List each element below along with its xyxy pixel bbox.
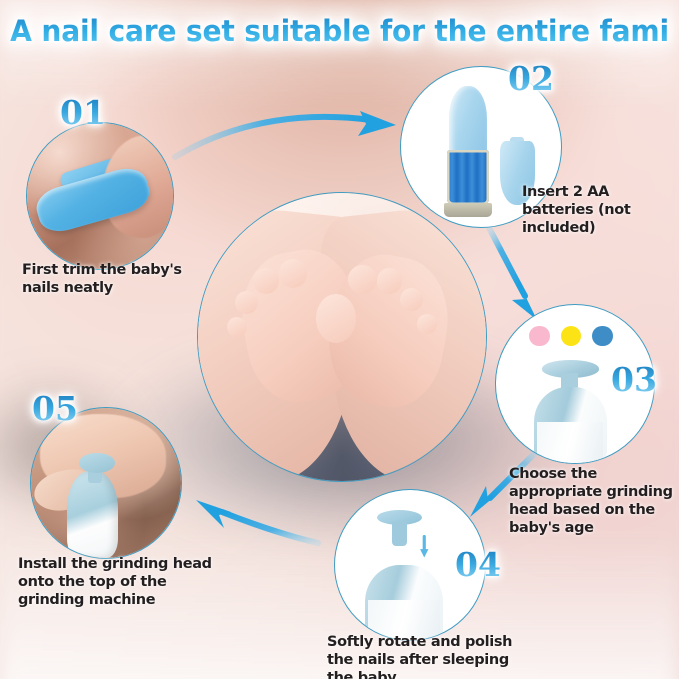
grinder-body	[449, 86, 487, 156]
step-01-circle	[26, 122, 174, 270]
grinder-machine-body	[67, 471, 118, 558]
toe	[377, 268, 403, 294]
grinding-head-stem	[392, 522, 407, 546]
step-02-number: 02	[508, 62, 554, 95]
step-04-caption: Softly rotate and polish the nails after…	[327, 634, 537, 679]
aa-batteries	[447, 150, 489, 204]
toe	[348, 265, 377, 294]
infographic-page: A nail care set suitable for the entire …	[0, 0, 679, 679]
blue-grinding-head-icon	[592, 326, 613, 347]
toe	[400, 288, 423, 311]
toe	[417, 314, 437, 334]
step-02-caption: Insert 2 AA batteries (not included)	[522, 184, 678, 238]
step-01-photo	[27, 123, 173, 269]
toe	[316, 294, 356, 343]
grinding-head	[79, 453, 115, 473]
center-photo-circle	[197, 192, 487, 482]
step-05-circle	[30, 407, 182, 559]
yellow-grinding-head-icon	[561, 326, 582, 347]
step-05-photo	[31, 408, 181, 558]
step-03-number: 03	[611, 363, 657, 396]
down-arrow-icon	[419, 535, 430, 559]
center-photo-image	[198, 193, 486, 481]
pink-grinding-head-icon	[529, 326, 550, 347]
step-04-number: 04	[455, 548, 501, 581]
step-03-caption: Choose the appropriate grinding head bas…	[509, 466, 679, 538]
battery-base-cap	[444, 203, 492, 217]
finger	[93, 128, 174, 244]
page-title: A nail care set suitable for the entire …	[10, 14, 669, 48]
grinder-white-band	[537, 422, 603, 463]
toe	[253, 268, 279, 294]
toe	[227, 317, 247, 337]
step-05-caption: Install the grinding head onto the top o…	[18, 556, 214, 610]
step-01-caption: First trim the baby's nails neatly	[22, 262, 192, 298]
step-05-number: 05	[32, 392, 78, 425]
step-01-number: 01	[60, 96, 106, 129]
